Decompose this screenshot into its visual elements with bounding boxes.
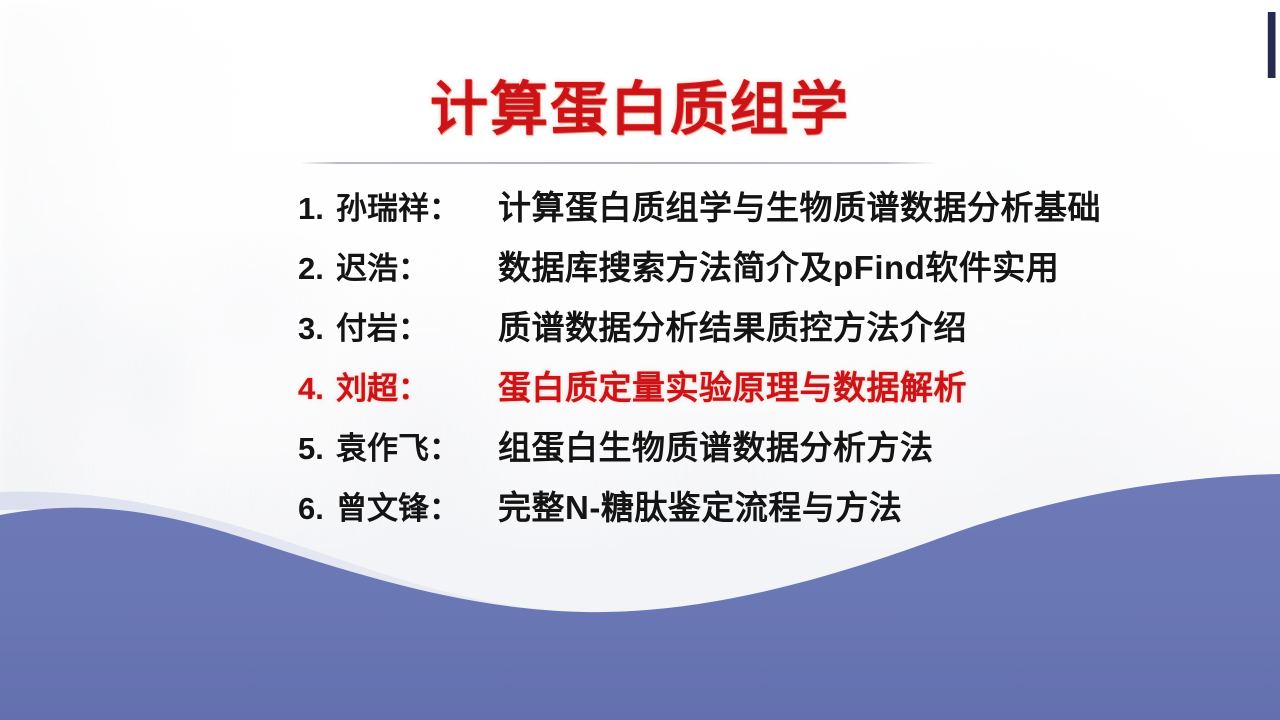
list-item-speaker: 袁作飞： <box>336 419 498 479</box>
list-item: 3. 付岩： 质谱数据分析结果质控方法介绍 <box>298 298 1138 358</box>
right-edge-scrollbar[interactable] <box>1267 12 1276 78</box>
list-item-topic: 组蛋白生物质谱数据分析方法 <box>498 418 1138 478</box>
list-item: 6. 曾文锋： 完整N-糖肽鉴定流程与方法 <box>298 478 1138 538</box>
list-item: 2. 迟浩： 数据库搜索方法简介及pFind软件实用 <box>298 238 1138 298</box>
list-item-number: 2. <box>298 239 336 299</box>
list-item-number: 5. <box>298 419 336 479</box>
list-item-number: 4. <box>298 359 336 419</box>
list-item-speaker: 曾文锋： <box>336 479 498 539</box>
list-item: 1. 孙瑞祥： 计算蛋白质组学与生物质谱数据分析基础 <box>298 178 1138 238</box>
list-item-topic: 数据库搜索方法简介及pFind软件实用 <box>498 238 1138 298</box>
list-item-speaker: 刘超： <box>336 359 498 419</box>
list-item-highlighted: 4. 刘超： 蛋白质定量实验原理与数据解析 <box>298 358 1138 418</box>
list-item-topic: 蛋白质定量实验原理与数据解析 <box>498 358 1138 418</box>
list-item-speaker: 付岩： <box>336 299 498 359</box>
list-item-number: 6. <box>298 479 336 539</box>
list-item-topic: 计算蛋白质组学与生物质谱数据分析基础 <box>498 178 1138 238</box>
list-item-number: 1. <box>298 179 336 239</box>
list-item-topic: 质谱数据分析结果质控方法介绍 <box>498 298 1138 358</box>
list-item-speaker: 孙瑞祥： <box>336 179 498 239</box>
list-item: 5. 袁作飞： 组蛋白生物质谱数据分析方法 <box>298 418 1138 478</box>
lecture-list: 1. 孙瑞祥： 计算蛋白质组学与生物质谱数据分析基础 2. 迟浩： 数据库搜索方… <box>298 178 1138 538</box>
list-item-number: 3. <box>298 299 336 359</box>
title-divider <box>300 162 936 164</box>
page-title: 计算蛋白质组学 <box>0 78 1280 142</box>
list-item-speaker: 迟浩： <box>336 239 498 299</box>
list-item-topic: 完整N-糖肽鉴定流程与方法 <box>498 478 1138 538</box>
presentation-slide: 计算蛋白质组学 1. 孙瑞祥： 计算蛋白质组学与生物质谱数据分析基础 2. 迟浩… <box>0 0 1280 720</box>
